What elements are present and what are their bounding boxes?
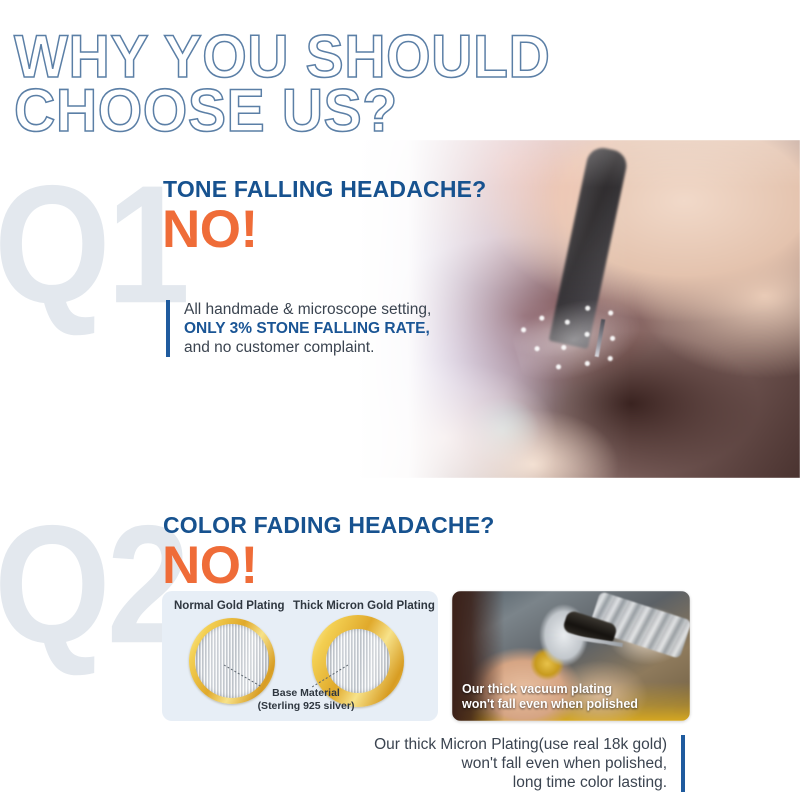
- base-material-label-line-1: Base Material: [228, 687, 384, 700]
- q2-heading: COLOR FADING HEADACHE?: [163, 512, 495, 539]
- base-material-label: Base Material (Sterling 925 silver): [228, 687, 384, 712]
- diagram-label-thick-plating: Thick Micron Gold Plating: [293, 600, 435, 612]
- q2-photo: Our thick vacuum plating won't fall even…: [452, 591, 690, 721]
- q2-answer: NO!: [162, 539, 258, 592]
- q1-heading: TONE FALLING HEADACHE?: [163, 176, 486, 203]
- thick-plating-base-material: [326, 629, 390, 693]
- q1-answer: NO!: [162, 203, 258, 256]
- q2-bottom-note-line-3: long time color lasting.: [374, 773, 667, 792]
- page-title: WHY YOU SHOULD CHOOSE US?: [14, 30, 784, 132]
- base-material-label-line-2: (Sterling 925 silver): [228, 700, 384, 713]
- q2-bottom-note-line-2: won't fall even when polished,: [374, 754, 667, 773]
- q2-bottom-note-line-1: Our thick Micron Plating(use real 18k go…: [374, 735, 667, 754]
- q1-description: All handmade & microscope setting, ONLY …: [166, 300, 431, 357]
- section-watermark-q1: Q1: [0, 160, 186, 328]
- q2-photo-caption-line-2: won't fall even when polished: [462, 697, 638, 712]
- gold-plating-diagram: Normal Gold Plating Thick Micron Gold Pl…: [162, 591, 438, 721]
- section-watermark-q2: Q2: [0, 500, 186, 668]
- q1-description-line-2: ONLY 3% STONE FALLING RATE,: [184, 319, 431, 338]
- q2-bottom-note: Our thick Micron Plating(use real 18k go…: [374, 735, 685, 792]
- page-title-line-2: CHOOSE US?: [14, 84, 800, 138]
- diagram-label-normal-plating: Normal Gold Plating: [174, 600, 285, 612]
- infographic-canvas: WHY YOU SHOULD CHOOSE US? Q1 TONE FALLIN…: [0, 0, 800, 800]
- q1-description-line-3: and no customer complaint.: [184, 338, 431, 357]
- q1-description-line-1: All handmade & microscope setting,: [184, 300, 431, 319]
- q2-photo-caption-line-1: Our thick vacuum plating: [462, 682, 638, 697]
- page-title-line-1: WHY YOU SHOULD: [14, 30, 800, 84]
- q2-photo-caption: Our thick vacuum plating won't fall even…: [462, 682, 638, 712]
